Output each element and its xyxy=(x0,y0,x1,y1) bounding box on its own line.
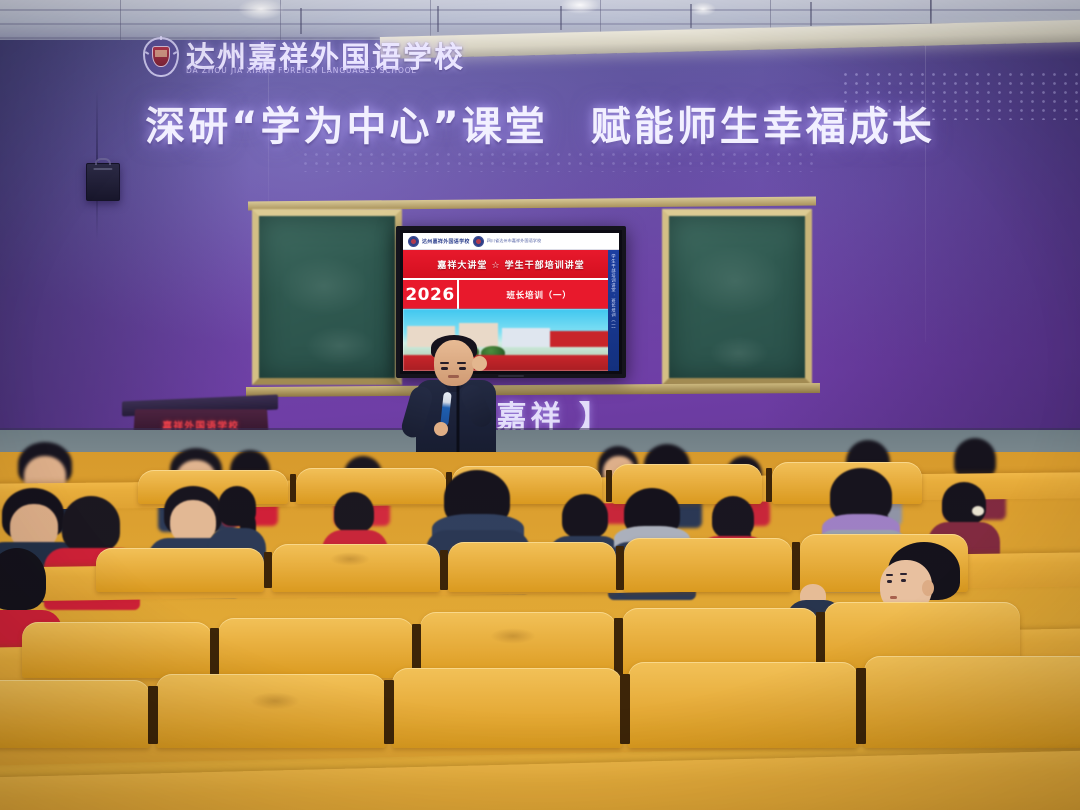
school-name-en: DA ZHOU JIA XIANG FOREIGN LANGUAGES SCHO… xyxy=(186,66,417,75)
event-headline: 深研“学为中心”课堂 赋能师生幸福成长 xyxy=(0,94,1080,152)
seat-back xyxy=(864,656,1080,748)
slide-header: 达州嘉祥外国语学校 四川省达州市嘉祥外国语学校 xyxy=(403,233,619,250)
slide-topic: 班长培训（一） xyxy=(459,280,619,309)
slide-crest-icon xyxy=(473,236,484,247)
dot-pattern-decoration xyxy=(300,150,820,172)
seat-back xyxy=(448,542,616,592)
seat-back xyxy=(96,548,264,592)
slide-header-title: 达州嘉祥外国语学校 xyxy=(422,238,470,245)
audience-seating-area xyxy=(0,452,1080,810)
lecture-hall-photo: 达州嘉祥外国语学校 DA ZHOU JIA XIANG FOREIGN LANG… xyxy=(0,0,1080,810)
slide-header-subtitle: 四川省达州市嘉祥外国语学校 xyxy=(487,238,542,244)
slide-crest-icon xyxy=(408,236,419,247)
seat-back xyxy=(218,618,414,678)
presenter-raised-hand xyxy=(472,356,487,371)
ceiling-rod xyxy=(690,4,692,28)
school-crest-icon xyxy=(143,37,179,77)
chalkboard-right xyxy=(662,209,812,385)
seat-back xyxy=(624,538,792,592)
presenter-head xyxy=(434,340,474,386)
slide-sidebar: 学生干部培训讲堂 · 班长培训（一） xyxy=(608,250,619,371)
seat-back xyxy=(628,662,858,748)
student xyxy=(214,486,260,550)
slide-subtitle-row: 2026 班长培训（一） xyxy=(403,278,619,309)
slide-sidebar-text: 学生干部培训讲堂 · 班长培训（一） xyxy=(611,254,617,332)
seat-back xyxy=(156,674,386,748)
chalkboard-left xyxy=(252,209,402,385)
slide-banner-title: 嘉祥大讲堂 ☆ 学生干部培训讲堂 xyxy=(403,250,619,278)
wall-speaker-icon xyxy=(86,163,120,201)
ceiling-rod xyxy=(930,0,932,24)
ceiling-rod xyxy=(437,6,439,32)
seat-back xyxy=(0,680,150,748)
ceiling-rod xyxy=(560,6,562,30)
ceiling-rod xyxy=(300,8,302,34)
seat-back xyxy=(22,622,212,678)
seat-back xyxy=(272,544,440,592)
slide-year: 2026 xyxy=(403,280,459,309)
ceiling-rod xyxy=(810,2,812,26)
seat-back xyxy=(392,668,622,748)
